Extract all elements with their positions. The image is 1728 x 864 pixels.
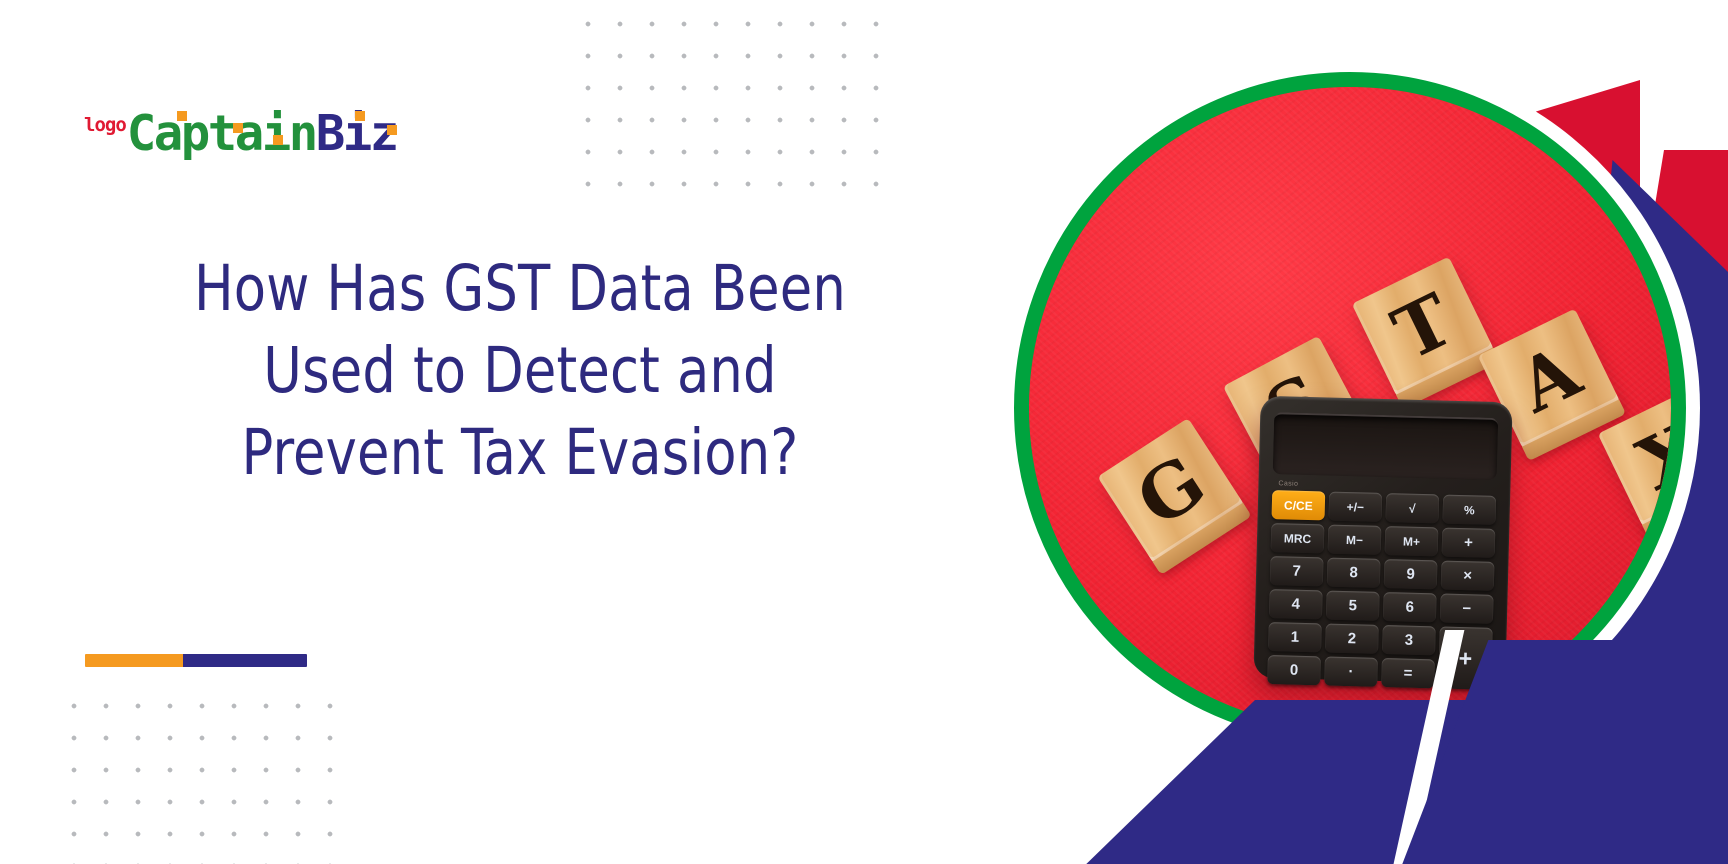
calculator-key[interactable]: +: [1442, 528, 1496, 558]
logo-pixel-accent: [273, 135, 283, 145]
calculator-key[interactable]: 1: [1268, 622, 1322, 652]
calculator-key[interactable]: 5: [1326, 591, 1380, 621]
calculator-key[interactable]: M−: [1328, 525, 1382, 555]
tile-letter: X: [1628, 412, 1671, 501]
calculator-key[interactable]: ·: [1324, 657, 1378, 687]
calculator-key[interactable]: C/CE: [1272, 490, 1326, 520]
logo-pixel-accent: [233, 123, 243, 133]
letter-tile: T: [1352, 257, 1495, 398]
calculator-key[interactable]: 8: [1327, 558, 1381, 588]
calculator-key[interactable]: =: [1381, 658, 1435, 688]
headline-line-3: Prevent Tax Evasion?: [102, 412, 939, 494]
accent-divider-navy: [183, 654, 307, 667]
captainbiz-logo[interactable]: logo CaptainBiz: [84, 96, 397, 158]
logo-pixel-accent: [387, 125, 397, 135]
logo-mini-label: logo: [84, 116, 126, 135]
tile-letter: T: [1383, 283, 1463, 371]
logo-pixel-accent: [355, 111, 365, 121]
tile-letter: A: [1508, 334, 1590, 423]
calculator-key[interactable]: 4: [1269, 589, 1323, 619]
calculator-key[interactable]: %: [1442, 495, 1496, 525]
calculator-key[interactable]: M+: [1385, 526, 1439, 556]
calculator-keypad: C/CE+/−√%MRCM−M++789×456−123+0·=: [1267, 490, 1496, 690]
dot-grid-bottom-left: [58, 690, 358, 864]
photo-red-backdrop: G S T A X Casio C/CE+/−√%MRCM: [1029, 87, 1671, 729]
headline-line-2: Used to Detect and: [102, 330, 939, 412]
calculator-key[interactable]: MRC: [1271, 523, 1325, 553]
calculator-key[interactable]: +/−: [1328, 492, 1382, 522]
calculator-key[interactable]: 2: [1325, 624, 1379, 654]
accent-divider: [85, 654, 307, 667]
calculator-key[interactable]: 0: [1267, 655, 1321, 685]
calculator: Casio C/CE+/−√%MRCM−M++789×456−123+0·=: [1253, 396, 1512, 684]
logo-word-captain: Captain: [127, 105, 316, 162]
letter-tile: G: [1097, 418, 1244, 564]
calculator-key[interactable]: 6: [1383, 592, 1437, 622]
logo-pixel-accent: [177, 111, 187, 121]
calculator-key[interactable]: 7: [1270, 556, 1324, 586]
page-title: How Has GST Data Been Used to Detect and…: [102, 248, 939, 494]
headline-line-1: How Has GST Data Been: [102, 248, 939, 330]
calculator-screen: [1273, 412, 1499, 480]
dot-grid-top: [572, 8, 902, 198]
calculator-key[interactable]: ×: [1441, 561, 1495, 591]
accent-divider-orange: [85, 654, 183, 667]
logo-wordmark: CaptainBiz: [127, 109, 397, 158]
tile-letter: G: [1126, 444, 1217, 538]
calculator-key[interactable]: √: [1385, 493, 1439, 523]
calculator-key[interactable]: 3: [1382, 625, 1436, 655]
calculator-key[interactable]: −: [1440, 594, 1494, 624]
calculator-key[interactable]: 9: [1384, 559, 1438, 589]
banner-canvas: logo CaptainBiz How Has GST Data Been Us…: [0, 0, 1728, 864]
